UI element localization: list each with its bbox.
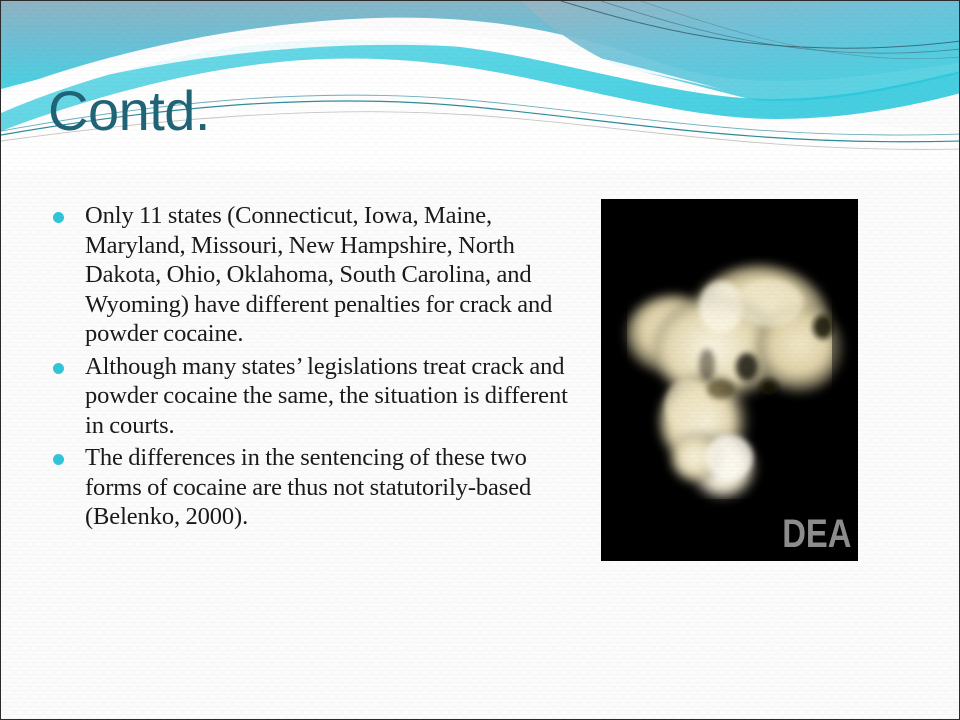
list-item-text: Only 11 states (Connecticut, Iowa, Maine… bbox=[85, 201, 587, 349]
photo-watermark-dea: DEA bbox=[782, 513, 851, 555]
crack-rock-photo-graphic bbox=[601, 199, 858, 561]
list-item-text: The differences in the sentencing of the… bbox=[85, 443, 587, 532]
list-item: The differences in the sentencing of the… bbox=[47, 443, 587, 532]
bullet-list: Only 11 states (Connecticut, Iowa, Maine… bbox=[47, 201, 587, 535]
slide-photo: DEA bbox=[601, 199, 858, 561]
bullet-dot-icon bbox=[53, 363, 64, 374]
bullet-dot-icon bbox=[53, 454, 64, 465]
list-item-text: Although many states’ legislations treat… bbox=[85, 352, 587, 441]
presentation-slide: Contd. Only 11 states (Connecticut, Iowa… bbox=[0, 0, 960, 720]
bullet-dot-icon bbox=[53, 212, 64, 223]
page-title: Contd. bbox=[48, 79, 210, 143]
list-item: Although many states’ legislations treat… bbox=[47, 352, 587, 441]
list-item: Only 11 states (Connecticut, Iowa, Maine… bbox=[47, 201, 587, 349]
